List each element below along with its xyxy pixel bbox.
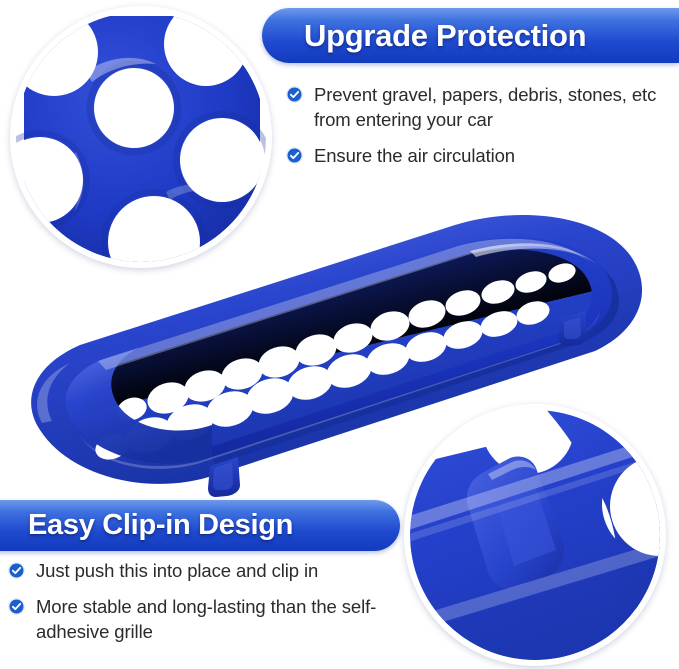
- check-circle-icon: [286, 147, 303, 164]
- product-infographic: Upgrade Protection Prevent gravel, paper…: [0, 0, 679, 669]
- check-circle-icon: [286, 86, 303, 103]
- clip-tab-closeup-inset: [404, 404, 666, 666]
- bullet-list-bottom: Just push this into place and clip in Mo…: [8, 558, 398, 655]
- banner-easy-clip-in-design: Easy Clip-in Design: [0, 500, 400, 551]
- bullet-item: Just push this into place and clip in: [8, 558, 398, 583]
- bullet-text: Ensure the air circulation: [314, 143, 515, 168]
- mesh-closeup-clip: [16, 12, 266, 262]
- heading-easy-clip-in-design: Easy Clip-in Design: [28, 509, 293, 542]
- bullet-item: Ensure the air circulation: [286, 143, 674, 168]
- bullet-item: Prevent gravel, papers, debris, stones, …: [286, 82, 674, 132]
- heading-upgrade-protection: Upgrade Protection: [304, 18, 586, 54]
- mesh-closeup-inset: [10, 6, 272, 268]
- clip-tab-closeup-clip: [410, 410, 660, 660]
- bullet-item: More stable and long-lasting than the se…: [8, 594, 398, 644]
- check-circle-icon: [8, 598, 25, 615]
- bullet-text: Just push this into place and clip in: [36, 558, 318, 583]
- banner-upgrade-protection: Upgrade Protection: [262, 8, 679, 63]
- check-circle-icon: [8, 562, 25, 579]
- bullet-text: More stable and long-lasting than the se…: [36, 594, 398, 644]
- bullet-text: Prevent gravel, papers, debris, stones, …: [314, 82, 674, 132]
- bullet-list-top: Prevent gravel, papers, debris, stones, …: [286, 82, 674, 179]
